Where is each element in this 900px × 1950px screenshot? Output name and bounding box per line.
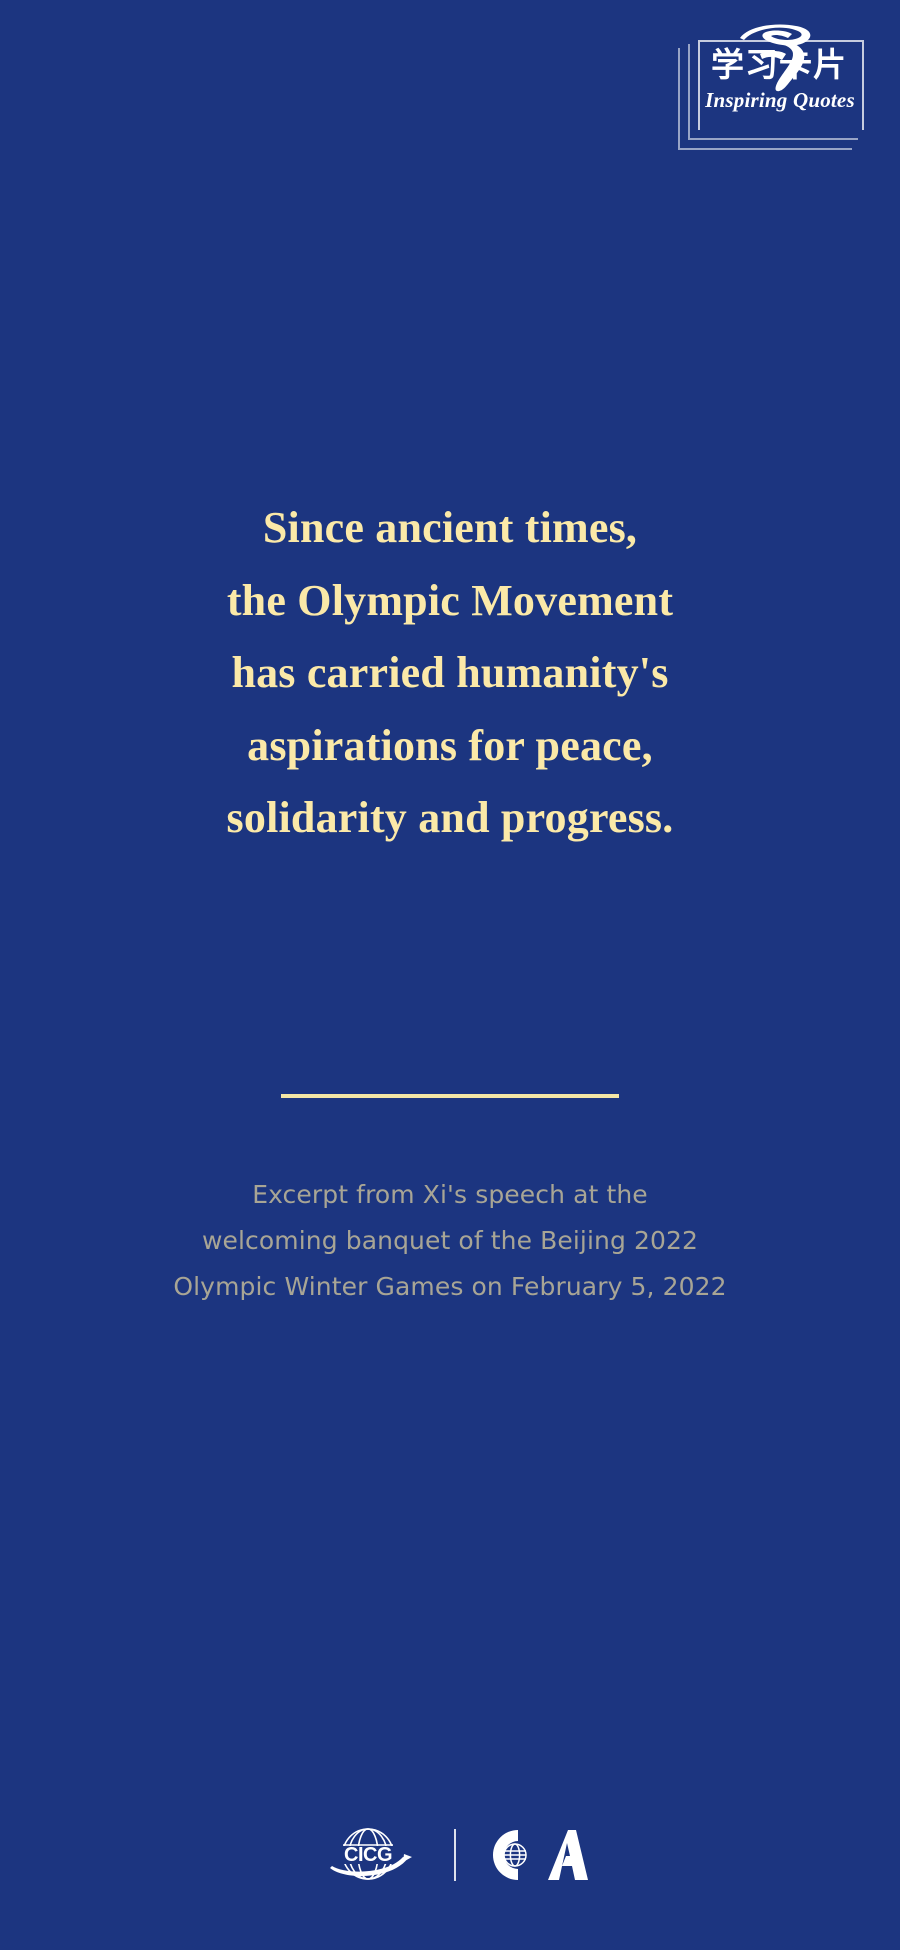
brand-english-title: Inspiring Quotes [704, 88, 856, 113]
brand-logo: 学习卡片 Inspiring Quotes [678, 18, 878, 150]
quote-line-5: solidarity and progress. [0, 782, 900, 855]
attribution-line-3: Olympic Winter Games on February 5, 2022 [0, 1264, 900, 1310]
svg-text:CICG: CICG [344, 1844, 392, 1866]
attribution-line-1: Excerpt from Xi's speech at the [0, 1172, 900, 1218]
quote-line-2: the Olympic Movement [0, 565, 900, 638]
footer-logo-separator [454, 1829, 456, 1881]
brand-chinese-title: 学习卡片 [704, 48, 854, 81]
divider-container [0, 1094, 900, 1098]
ca-logo [482, 1826, 592, 1884]
quote-line-4: aspirations for peace, [0, 710, 900, 783]
quote-line-1: Since ancient times, [0, 492, 900, 565]
section-divider [281, 1094, 619, 1098]
quote-card: 学习卡片 Inspiring Quotes Since ancient time… [0, 0, 900, 1950]
attribution-line-2: welcoming banquet of the Beijing 2022 [0, 1218, 900, 1264]
quote-text-block: Since ancient times, the Olympic Movemen… [0, 492, 900, 855]
attribution-block: Excerpt from Xi's speech at the welcomin… [0, 1172, 900, 1310]
footer-logo-bar: CICG [0, 1820, 900, 1890]
quote-line-3: has carried humanity's [0, 637, 900, 710]
cicg-logo: CICG [308, 1824, 428, 1886]
